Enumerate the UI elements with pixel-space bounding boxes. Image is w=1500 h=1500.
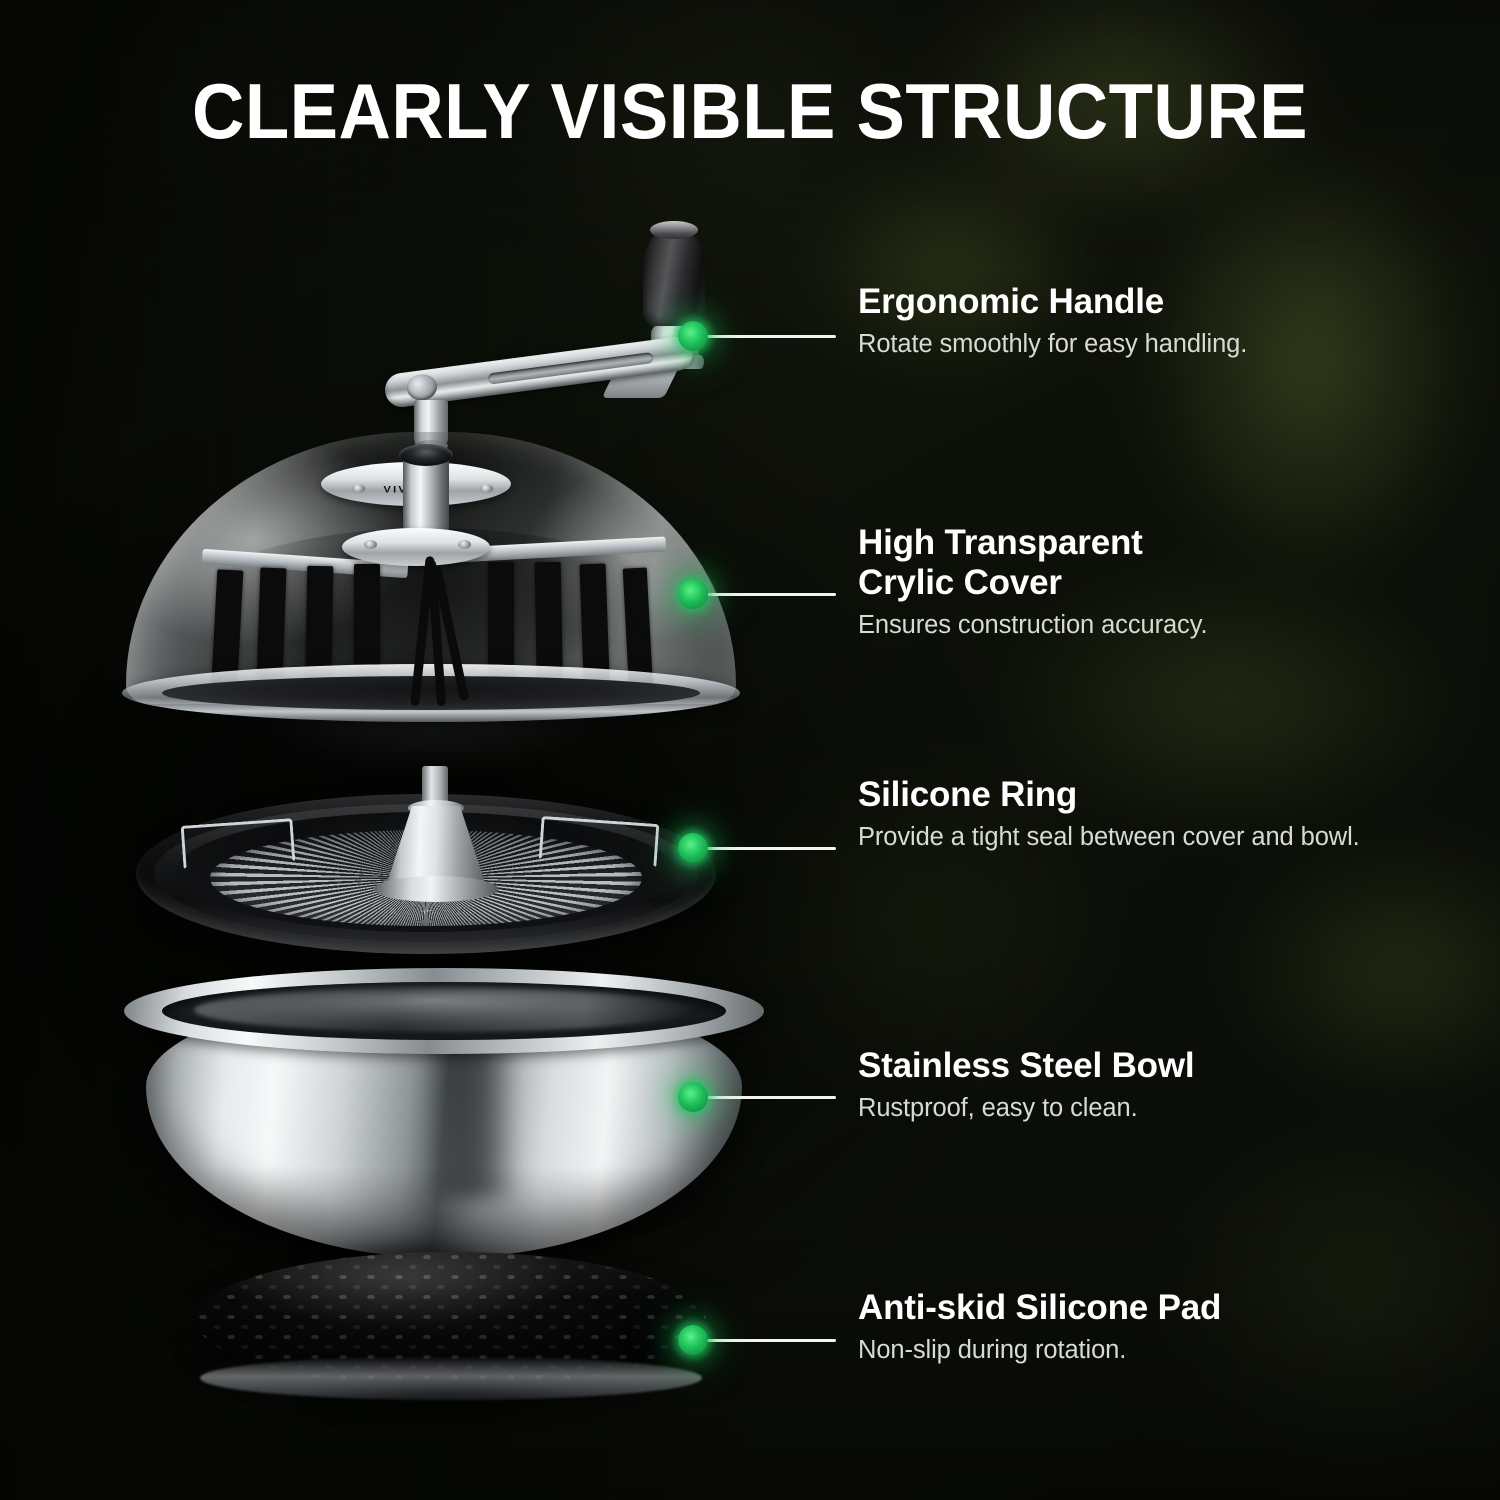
callout-title: Silicone Ring [858,775,1418,815]
bowl-inner-sheen [194,988,694,1032]
callout-silicone-ring: Silicone Ring Provide a tight seal betwe… [858,775,1418,854]
marker-dot-crylic-cover[interactable] [678,579,708,609]
dome-hub-cap [399,444,453,466]
callout-title: Ergonomic Handle [858,282,1418,322]
ring-wire-handle-left [181,818,296,870]
marker-dot-silicone-pad[interactable] [678,1325,708,1355]
handle-knob [643,226,705,330]
stainless-steel-bowl [124,968,764,1258]
marker-dot-ergonomic-handle[interactable] [678,321,708,351]
connector-line-stainless-bowl [700,1096,836,1099]
callout-stainless-bowl: Stainless Steel Bowl Rustproof, easy to … [858,1046,1418,1125]
callout-subtitle: Provide a tight seal between cover and b… [858,822,1418,854]
marker-dot-stainless-bowl[interactable] [678,1082,708,1112]
callout-subtitle: Rustproof, easy to clean. [858,1093,1418,1125]
ring-wire-handle-right [539,816,660,868]
callout-title: Stainless Steel Bowl [858,1046,1418,1086]
callout-title-line2: Crylic Cover [858,563,1418,603]
marker-dot-silicone-ring[interactable] [678,833,708,863]
anti-skid-silicone-pad [196,1252,706,1412]
product-exploded-diagram: VIVOSUN [0,0,860,1500]
blade-wires [400,556,470,712]
callout-silicone-pad: Anti-skid Silicone Pad Non-slip during r… [858,1288,1418,1367]
silicone-ring-assembly [136,782,716,972]
pad-drop-shadow [236,1380,666,1420]
product-infographic: CLEARLY VISIBLE STRUCTURE [0,0,1500,1500]
connector-line-silicone-ring [700,847,836,850]
callout-title: Anti-skid Silicone Pad [858,1288,1418,1328]
callout-subtitle: Rotate smoothly for easy handling. [858,329,1418,361]
connector-line-ergonomic-handle [700,335,836,338]
mid-plate-screw-right [458,540,471,549]
callout-title-line1: High Transparent [858,523,1418,563]
connector-line-silicone-pad [700,1339,836,1342]
mid-plate-screw-left [364,540,377,549]
callout-subtitle: Ensures construction accuracy. [858,610,1418,642]
callout-crylic-cover: High Transparent Crylic Cover Ensures co… [858,523,1418,642]
callout-subtitle: Non-slip during rotation. [858,1335,1418,1367]
callout-ergonomic-handle: Ergonomic Handle Rotate smoothly for eas… [858,282,1418,361]
center-cone-base [374,876,498,902]
connector-line-crylic-cover [700,593,836,596]
